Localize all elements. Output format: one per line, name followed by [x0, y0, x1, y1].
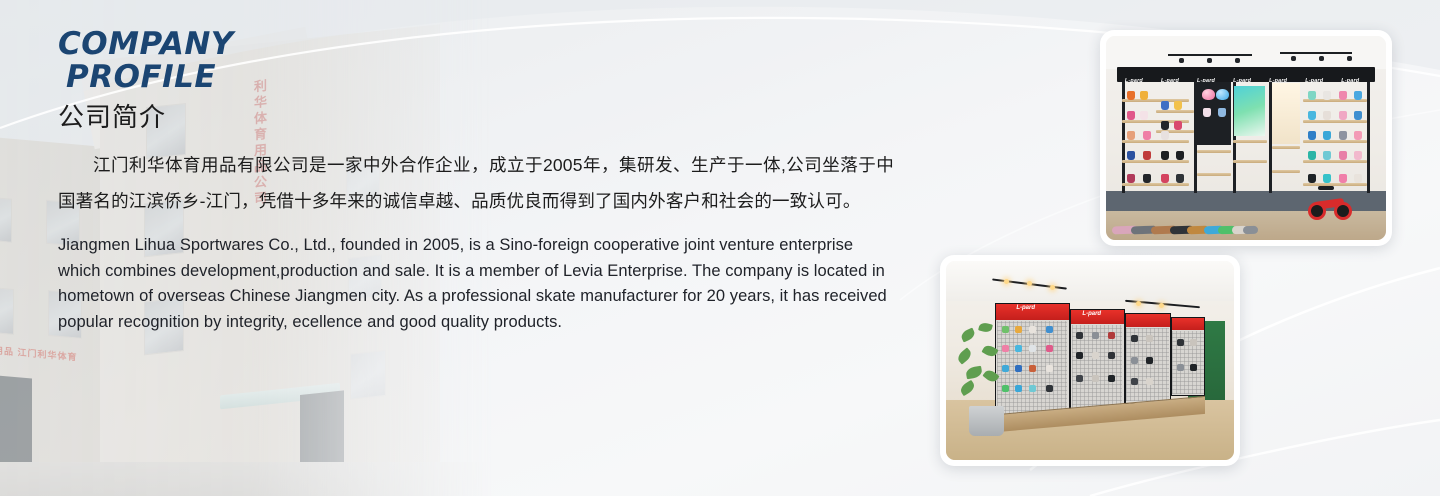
spot-light	[1319, 56, 1324, 61]
shelf	[1303, 140, 1367, 143]
skate	[1143, 151, 1151, 160]
brand-banner: L-pard	[1071, 310, 1124, 324]
spot-light	[1050, 285, 1055, 290]
shelf	[1156, 110, 1195, 113]
track-light-bar	[1168, 54, 1252, 56]
display-wall-panel	[1125, 313, 1171, 405]
plant-leaf	[981, 343, 998, 359]
bike-handlebar	[1318, 186, 1334, 190]
skate	[1127, 111, 1135, 120]
skate	[1323, 91, 1331, 100]
skate	[1029, 365, 1036, 372]
skate	[1176, 151, 1184, 160]
spot-light	[1179, 58, 1184, 63]
bike-wheel	[1334, 202, 1352, 220]
skate	[1323, 174, 1331, 183]
title-en-line1: COMPANY	[58, 26, 234, 62]
shelf	[1197, 173, 1230, 176]
photo-showroom-aisle[interactable]: L-pard	[940, 255, 1240, 466]
plant-leaf	[982, 368, 999, 384]
plant-leaf	[978, 321, 993, 333]
profile-paragraph-en: Jiangmen Lihua Sportwares Co., Ltd., fou…	[58, 233, 892, 335]
building-sign-red: 利华体育用品 江门利华体育	[0, 340, 78, 364]
brand-tag: L-pard	[1305, 78, 1323, 84]
skate	[1131, 357, 1138, 364]
skate	[1146, 378, 1153, 385]
skate	[1323, 131, 1331, 140]
skate	[1131, 378, 1138, 385]
lightbox-niche	[1272, 83, 1300, 144]
spot-light	[1347, 56, 1352, 61]
skate	[1143, 131, 1151, 140]
brand-banner: L-pard	[996, 304, 1069, 320]
skate	[1177, 364, 1184, 371]
page-title-cn: 公司简介	[58, 101, 898, 133]
plant-pot	[969, 406, 1004, 436]
shelf	[1197, 150, 1230, 153]
skate	[1354, 91, 1362, 100]
skate	[1308, 111, 1316, 120]
shelf	[1122, 183, 1189, 186]
display-rack: L-pard L-pard L-pard L-pard L-pard L-par…	[1117, 67, 1375, 193]
skate	[1339, 151, 1347, 160]
skate	[1161, 151, 1169, 160]
plant-leaf	[958, 380, 976, 396]
shelf	[1272, 146, 1300, 149]
track-light-bar	[1280, 52, 1353, 54]
brand-banner	[1126, 314, 1170, 327]
skate	[1218, 108, 1226, 117]
skate	[1176, 174, 1184, 183]
skate	[1339, 131, 1347, 140]
skate	[1127, 131, 1135, 140]
skate	[1177, 339, 1184, 346]
shelf	[1233, 160, 1266, 163]
showroom-wall-scene: L-pard L-pard L-pard L-pard L-pard L-par…	[1106, 36, 1386, 240]
rack-post	[1367, 82, 1370, 193]
rack-post	[1122, 82, 1125, 193]
showroom-aisle-scene: L-pard	[946, 261, 1234, 460]
skate	[1140, 111, 1148, 120]
brand-tag: L-pard	[1161, 78, 1179, 84]
skate	[1354, 174, 1362, 183]
window	[350, 350, 386, 400]
window	[0, 196, 12, 243]
shelf	[1122, 140, 1189, 143]
company-profile-section: 利华体育用品 江门利华体育 利华体育用品公司 COMPANY PROFILE 公…	[0, 0, 1440, 496]
skate	[1076, 352, 1083, 359]
window	[0, 286, 14, 335]
skate	[1161, 101, 1169, 110]
skate	[1308, 174, 1316, 183]
skate	[1161, 131, 1169, 140]
skate	[1127, 91, 1135, 100]
shelf	[1303, 160, 1367, 163]
skate	[1161, 121, 1169, 130]
shelf	[1303, 99, 1367, 102]
skate	[1190, 339, 1197, 346]
skate	[1146, 335, 1153, 342]
skate	[1092, 332, 1099, 339]
brand-banner	[1172, 318, 1205, 330]
brand-tag: L-pard	[1016, 305, 1035, 311]
skate	[1046, 385, 1053, 392]
skate	[1029, 345, 1036, 352]
skate	[1354, 111, 1362, 120]
display-wall-panel: L-pard	[1070, 309, 1125, 412]
skate	[1354, 151, 1362, 160]
shelf	[1233, 140, 1266, 143]
spot-light	[1027, 281, 1032, 286]
spot-light	[1207, 58, 1212, 63]
skate	[1092, 375, 1099, 382]
skate	[1339, 91, 1347, 100]
potted-plant	[955, 321, 1018, 436]
skateboard	[1243, 226, 1258, 235]
plant-leaf	[956, 347, 974, 364]
skate	[1046, 365, 1053, 372]
brand-tag: L-pard	[1125, 78, 1143, 84]
photo-showroom-aisle-image: L-pard	[946, 261, 1234, 460]
spot-light	[1235, 58, 1240, 63]
shelf	[1303, 120, 1367, 123]
skate	[1143, 174, 1151, 183]
skate	[1108, 332, 1115, 339]
brand-tag: L-pard	[1082, 311, 1101, 317]
photo-showroom-wall-image: L-pard L-pard L-pard L-pard L-pard L-par…	[1106, 36, 1386, 240]
helmet	[1202, 89, 1215, 100]
skate	[1076, 375, 1083, 382]
skate	[1308, 151, 1316, 160]
brand-tag: L-pard	[1341, 78, 1359, 84]
spot-light	[1004, 279, 1009, 284]
skate	[1174, 101, 1182, 110]
page-title-en: COMPANY PROFILE	[58, 28, 898, 94]
skate	[1308, 91, 1316, 100]
title-en-line2: PROFILE	[58, 61, 898, 94]
kids-bike	[1308, 184, 1352, 220]
skate	[1076, 332, 1083, 339]
skate	[1131, 335, 1138, 342]
skate	[1323, 111, 1331, 120]
shelf	[1122, 160, 1189, 163]
street-ground	[0, 462, 540, 496]
skate	[1108, 375, 1115, 382]
skate	[1190, 364, 1197, 371]
skate	[1308, 131, 1316, 140]
skate	[1046, 326, 1053, 333]
poster-screen	[1234, 86, 1265, 137]
skate	[1323, 151, 1331, 160]
spot-light	[1159, 303, 1164, 308]
plant-leaf	[965, 366, 983, 380]
skate	[1354, 131, 1362, 140]
skate	[1174, 121, 1182, 130]
skate	[1029, 385, 1036, 392]
profile-text-column: COMPANY PROFILE 公司简介 江门利华体育用品有限公司是一家中外合作…	[58, 28, 898, 335]
skate	[1146, 357, 1153, 364]
skate	[1092, 352, 1099, 359]
skate	[1127, 174, 1135, 183]
skate	[1046, 345, 1053, 352]
skate	[1339, 111, 1347, 120]
bike-wheel	[1308, 202, 1326, 220]
spot-light	[1291, 56, 1296, 61]
spot-light	[1136, 301, 1141, 306]
skate	[1127, 151, 1135, 160]
skate	[1140, 91, 1148, 100]
plant-leaf	[959, 327, 976, 342]
display-wall-panel	[1171, 317, 1206, 397]
shelf	[1272, 170, 1300, 173]
skate	[1339, 174, 1347, 183]
ceiling	[946, 261, 1234, 301]
profile-paragraph-cn: 江门利华体育用品有限公司是一家中外合作企业，成立于2005年，集研发、生产于一体…	[58, 147, 894, 219]
skate	[1161, 174, 1169, 183]
skate	[1108, 352, 1115, 359]
photo-showroom-wall[interactable]: L-pard L-pard L-pard L-pard L-pard L-par…	[1100, 30, 1392, 246]
skate	[1029, 326, 1036, 333]
